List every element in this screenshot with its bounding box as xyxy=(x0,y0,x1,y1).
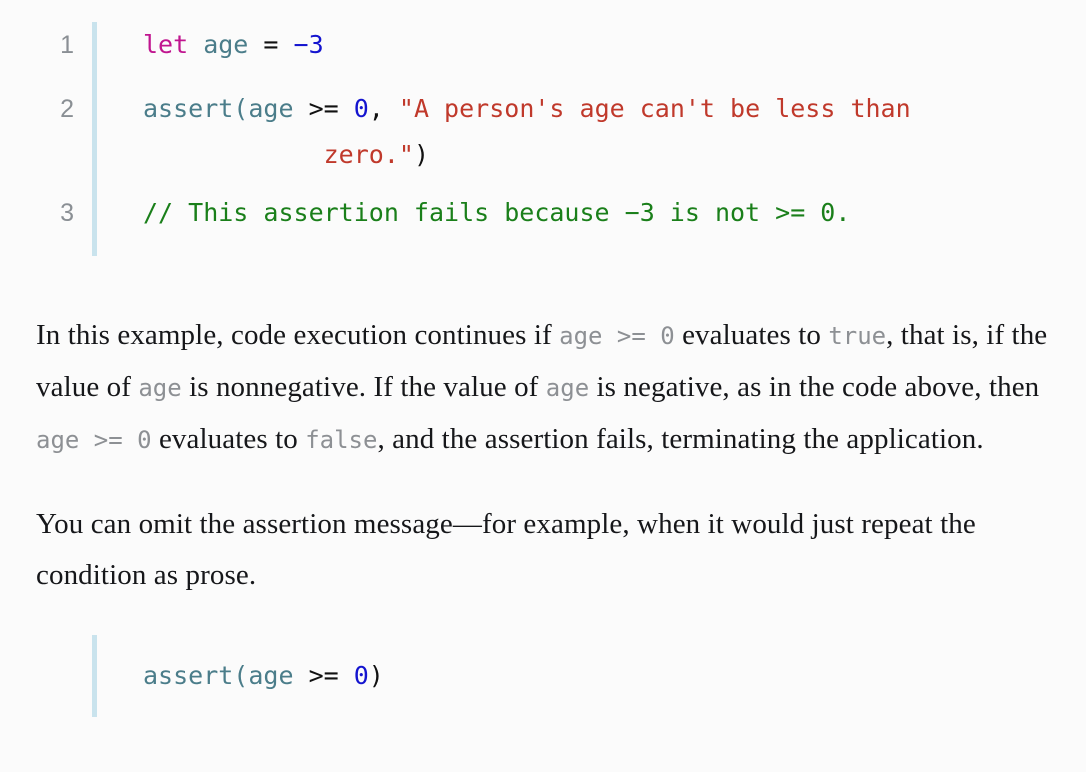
code-line-content: let age = −3 xyxy=(97,22,1086,86)
code-token-keyword: let xyxy=(143,30,188,59)
code-block-numbered: 1 let age = −3 2 assert(age >= 0, "A per… xyxy=(0,0,1086,270)
paragraph-text-segment: In this example, code execution continue… xyxy=(36,319,559,351)
inline-code-age-gte-zero: age >= 0 xyxy=(559,322,675,350)
code-line-content: assert(age >= 0) xyxy=(97,635,1086,717)
code-token-number: 0 xyxy=(354,661,369,690)
code-wrap-indent xyxy=(143,140,324,169)
line-number: 3 xyxy=(0,190,92,236)
inline-code-false: false xyxy=(305,426,377,454)
paragraph-explanation: In this example, code execution continue… xyxy=(36,310,1050,466)
line-number: 2 xyxy=(0,86,92,132)
paragraph-omit-message: You can omit the assertion message—for e… xyxy=(36,499,1050,601)
prose-section: In this example, code execution continue… xyxy=(0,310,1086,601)
code-token-number: −3 xyxy=(294,30,324,59)
code-line-content: assert(age >= 0, "A person's age can't b… xyxy=(97,86,1086,190)
code-token-comment: // This assertion fails because −3 is no… xyxy=(143,198,850,227)
code-token-call: assert(age xyxy=(143,661,294,690)
code-block-plain: assert(age >= 0) xyxy=(0,635,1086,717)
paragraph-text-segment: , and the assertion fails, terminating t… xyxy=(377,423,983,455)
code-token-close-paren: ) xyxy=(369,661,384,690)
code-token-comma: , xyxy=(369,94,399,123)
code-token-operator: >= xyxy=(294,94,354,123)
code-token-operator: >= xyxy=(294,661,354,690)
inline-code-age: age xyxy=(138,374,181,402)
code-token-close-paren: ) xyxy=(414,140,429,169)
paragraph-text-segment: evaluates to xyxy=(152,423,306,455)
paragraph-text-segment: evaluates to xyxy=(675,319,829,351)
code-token-operator: = xyxy=(263,30,293,59)
inline-code-age-gte-zero: age >= 0 xyxy=(36,426,152,454)
code-line-row: 3 // This assertion fails because −3 is … xyxy=(0,190,1086,256)
code-token-call: assert(age xyxy=(143,94,294,123)
code-line-row: 1 let age = −3 xyxy=(0,22,1086,86)
code-token-number: 0 xyxy=(354,94,369,123)
code-line-row: 2 assert(age >= 0, "A person's age can't… xyxy=(0,86,1086,190)
code-token-string: "A person's age can't be less than xyxy=(399,94,911,123)
code-line-content: // This assertion fails because −3 is no… xyxy=(97,190,1086,256)
code-token-identifier: age xyxy=(188,30,263,59)
line-number: 1 xyxy=(0,22,92,68)
paragraph-text-segment: is nonnegative. If the value of xyxy=(182,371,546,403)
document-page: 1 let age = −3 2 assert(age >= 0, "A per… xyxy=(0,0,1086,772)
paragraph-text-segment: is negative, as in the code above, then xyxy=(589,371,1039,403)
inline-code-true: true xyxy=(828,322,886,350)
inline-code-age: age xyxy=(546,374,589,402)
code-token-string-continued: zero." xyxy=(324,140,414,169)
